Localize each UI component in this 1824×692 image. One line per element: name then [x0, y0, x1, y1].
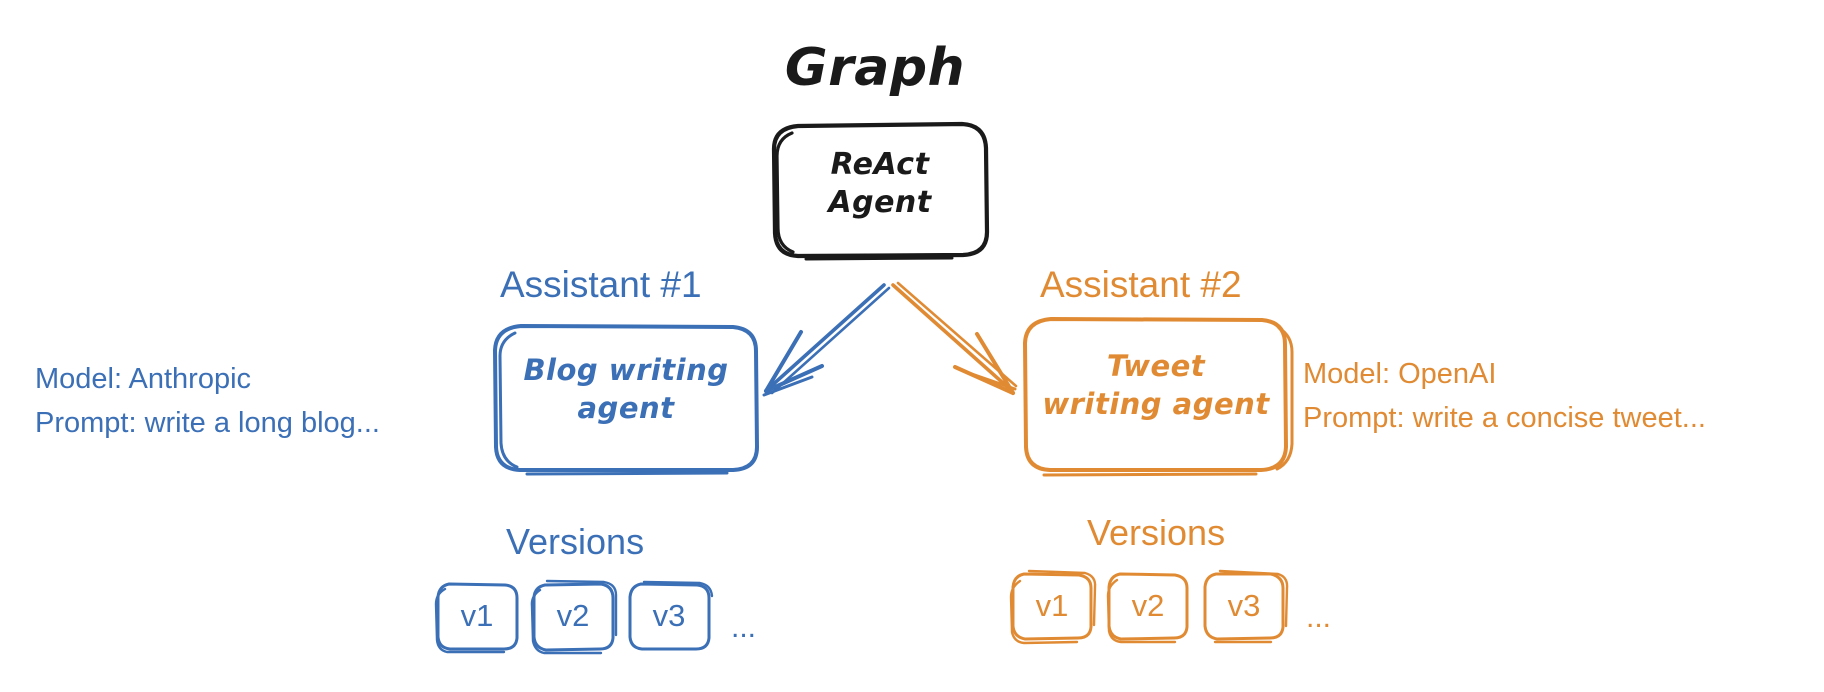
- graph-title: Graph: [725, 42, 1025, 94]
- tweet-writing-agent-label-line1: Tweet: [1026, 348, 1286, 386]
- assistant-2-model-line: Model: OpenAI: [1303, 353, 1706, 397]
- version-chip-v3[interactable]: v3: [629, 583, 709, 649]
- version-chip-v1[interactable]: v1: [437, 583, 517, 649]
- tweet-writing-agent-label-line2: writing agent: [1026, 386, 1286, 424]
- assistant-1-meta: Model: Anthropic Prompt: write a long bl…: [35, 358, 380, 445]
- version-chip-v3[interactable]: v3: [1204, 573, 1284, 639]
- tweet-writing-agent-node[interactable]: Tweet writing agent: [1026, 348, 1286, 423]
- assistant-1-heading: Assistant #1: [500, 266, 702, 303]
- assistant-1-versions-heading: Versions: [506, 524, 644, 560]
- version-chip-label: v3: [1228, 588, 1261, 624]
- react-agent-node[interactable]: ReAct Agent: [775, 146, 985, 221]
- blog-writing-agent-node[interactable]: Blog writing agent: [496, 352, 756, 427]
- assistant-2-versions-more: ...: [1300, 603, 1331, 639]
- assistant-2-meta: Model: OpenAI Prompt: write a concise tw…: [1303, 353, 1706, 440]
- version-chip-label: v1: [1036, 588, 1069, 624]
- arrow-to-blog-agent: [764, 285, 889, 395]
- version-chip-label: v2: [1132, 588, 1165, 624]
- assistant-2-versions-heading: Versions: [1087, 515, 1225, 551]
- version-chip-label: v1: [461, 598, 494, 634]
- blog-writing-agent-label-line2: agent: [496, 390, 756, 428]
- version-chip-v2[interactable]: v2: [533, 583, 613, 649]
- assistant-1-versions-more: ...: [725, 613, 756, 649]
- version-chip-label: v2: [557, 598, 590, 634]
- assistant-2-prompt-line: Prompt: write a concise tweet...: [1303, 397, 1706, 441]
- assistant-2-versions-row: v1 v2 v3 ...: [1012, 573, 1331, 639]
- assistant-1-model-line: Model: Anthropic: [35, 358, 380, 402]
- diagram-canvas: [0, 0, 1824, 692]
- arrow-to-tweet-agent: [893, 283, 1016, 393]
- blog-writing-agent-label-line1: Blog writing: [496, 352, 756, 390]
- version-chip-label: v3: [653, 598, 686, 634]
- react-agent-label-line2: Agent: [775, 184, 985, 222]
- react-agent-label-line1: ReAct: [775, 146, 985, 184]
- version-chip-v2[interactable]: v2: [1108, 573, 1188, 639]
- assistant-2-heading: Assistant #2: [1040, 266, 1242, 303]
- version-chip-v1[interactable]: v1: [1012, 573, 1092, 639]
- assistant-1-prompt-line: Prompt: write a long blog...: [35, 402, 380, 446]
- assistant-1-versions-row: v1 v2 v3 ...: [437, 583, 756, 649]
